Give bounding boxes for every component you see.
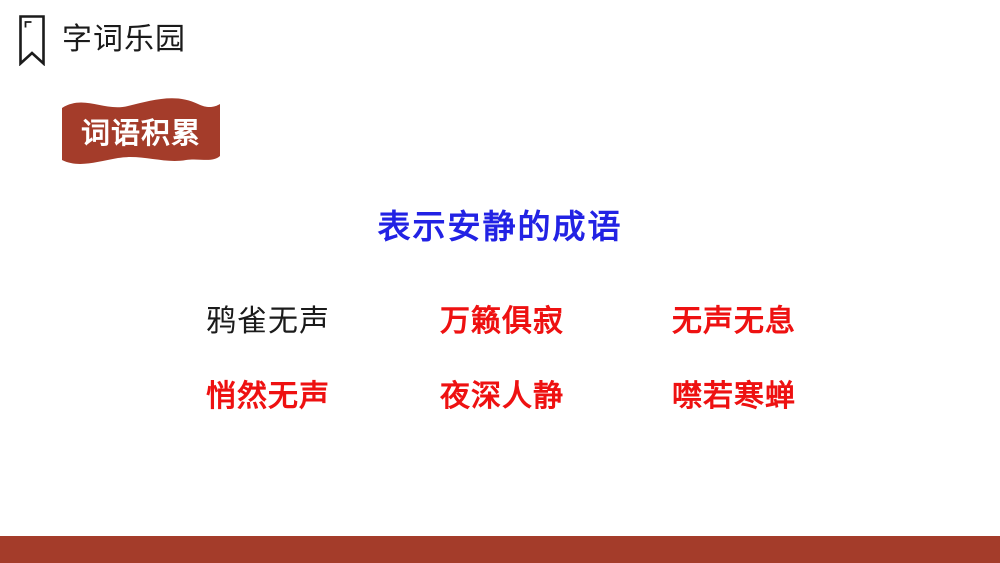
section-heading: 表示安静的成语 (0, 210, 1000, 243)
page-title: 字词乐园 (62, 25, 186, 55)
idiom-item: 无声无息 (618, 305, 850, 338)
slide-canvas: 字词乐园 词语积累 表示安静的成语 鸦雀无声 万籁俱寂 无声无息 悄然无声 夜深… (0, 0, 1000, 563)
bookmark-icon (18, 14, 46, 66)
idiom-item: 噤若寒蝉 (618, 380, 850, 413)
footer-bar (0, 536, 1000, 563)
section-banner: 词语积累 (60, 96, 222, 170)
idiom-item: 悄然无声 (150, 380, 386, 413)
idiom-item: 万籁俱寂 (386, 305, 618, 338)
section-banner-label: 词语积累 (60, 96, 222, 170)
idiom-item: 夜深人静 (386, 380, 618, 413)
slide-header: 字词乐园 (18, 14, 186, 66)
idiom-item: 鸦雀无声 (150, 305, 386, 338)
idiom-grid: 鸦雀无声 万籁俱寂 无声无息 悄然无声 夜深人静 噤若寒蝉 (150, 305, 850, 413)
idiom-row: 悄然无声 夜深人静 噤若寒蝉 (150, 380, 850, 413)
idiom-row: 鸦雀无声 万籁俱寂 无声无息 (150, 305, 850, 338)
